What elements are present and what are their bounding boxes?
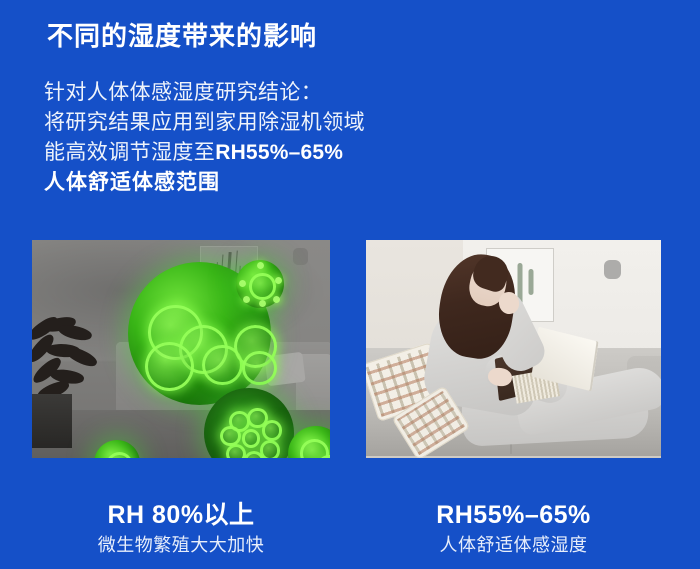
wall-speaker-icon (604, 260, 621, 279)
photo-panel-right (366, 240, 661, 458)
body-copy: 针对人体体感湿度研究结论： 将研究结果应用到家用除湿机领域 能高效调节湿度至RH… (44, 78, 444, 198)
caption-left-subtitle: 微生物繁殖大大加快 (32, 532, 330, 558)
page-title: 不同的湿度带来的影响 (47, 17, 317, 55)
microbe-sphere-small-icon (236, 260, 284, 308)
photo-panel-left (32, 240, 330, 458)
plant-pot-dark (32, 394, 72, 448)
caption-right-subtitle: 人体舒适体感湿度 (366, 532, 661, 558)
poster-root: 不同的湿度带来的影响 针对人体体感湿度研究结论： 将研究结果应用到家用除湿机领域… (0, 0, 700, 569)
body-line-1: 针对人体体感湿度研究结论： (44, 78, 444, 108)
dark-room-scene (32, 240, 330, 458)
body-line-3: 能高效调节湿度至RH55%–65% (44, 138, 444, 168)
body-line-3-highlight: RH55%–65% (215, 141, 343, 164)
caption-right: RH55%–65% 人体舒适体感湿度 (366, 500, 661, 558)
body-line-4: 人体舒适体感范围 (44, 168, 444, 198)
caption-left-title: RH 80%以上 (32, 500, 330, 530)
wall-thermostat-icon (293, 248, 308, 265)
bright-room-scene (366, 240, 661, 458)
body-line-2: 将研究结果应用到家用除湿机领域 (44, 108, 444, 138)
caption-right-title: RH55%–65% (366, 500, 661, 530)
body-line-3-prefix: 能高效调节湿度至 (44, 141, 215, 164)
caption-left: RH 80%以上 微生物繁殖大大加快 (32, 500, 330, 558)
plant-dark (32, 316, 104, 402)
